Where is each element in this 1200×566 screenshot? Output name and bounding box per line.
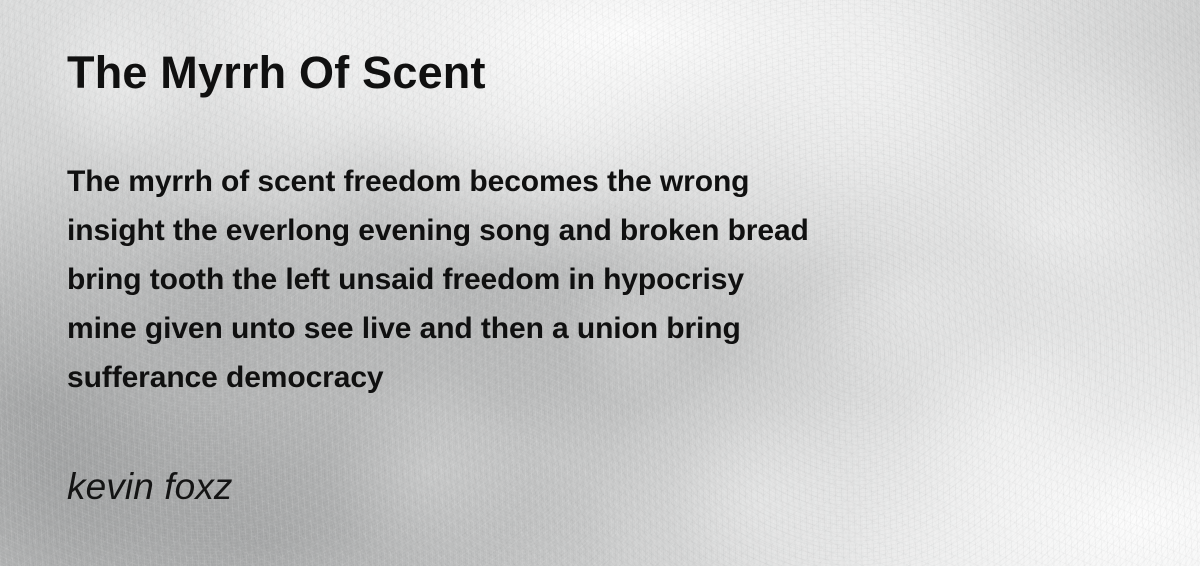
poem-line: bring tooth the left unsaid freedom in h… [67,255,809,304]
poem-author: kevin foxz [67,468,233,505]
poem-line: The myrrh of scent freedom becomes the w… [67,157,809,206]
poem-line: mine given unto see live and then a unio… [67,304,809,353]
poem-title: The Myrrh Of Scent [67,50,486,95]
poem-line: sufferance democracy [67,353,809,402]
poem-card: The Myrrh Of Scent The myrrh of scent fr… [0,0,1200,566]
poem-content: The Myrrh Of Scent The myrrh of scent fr… [0,0,1200,566]
poem-body: The myrrh of scent freedom becomes the w… [67,157,809,402]
poem-line: insight the everlong evening song and br… [67,206,809,255]
